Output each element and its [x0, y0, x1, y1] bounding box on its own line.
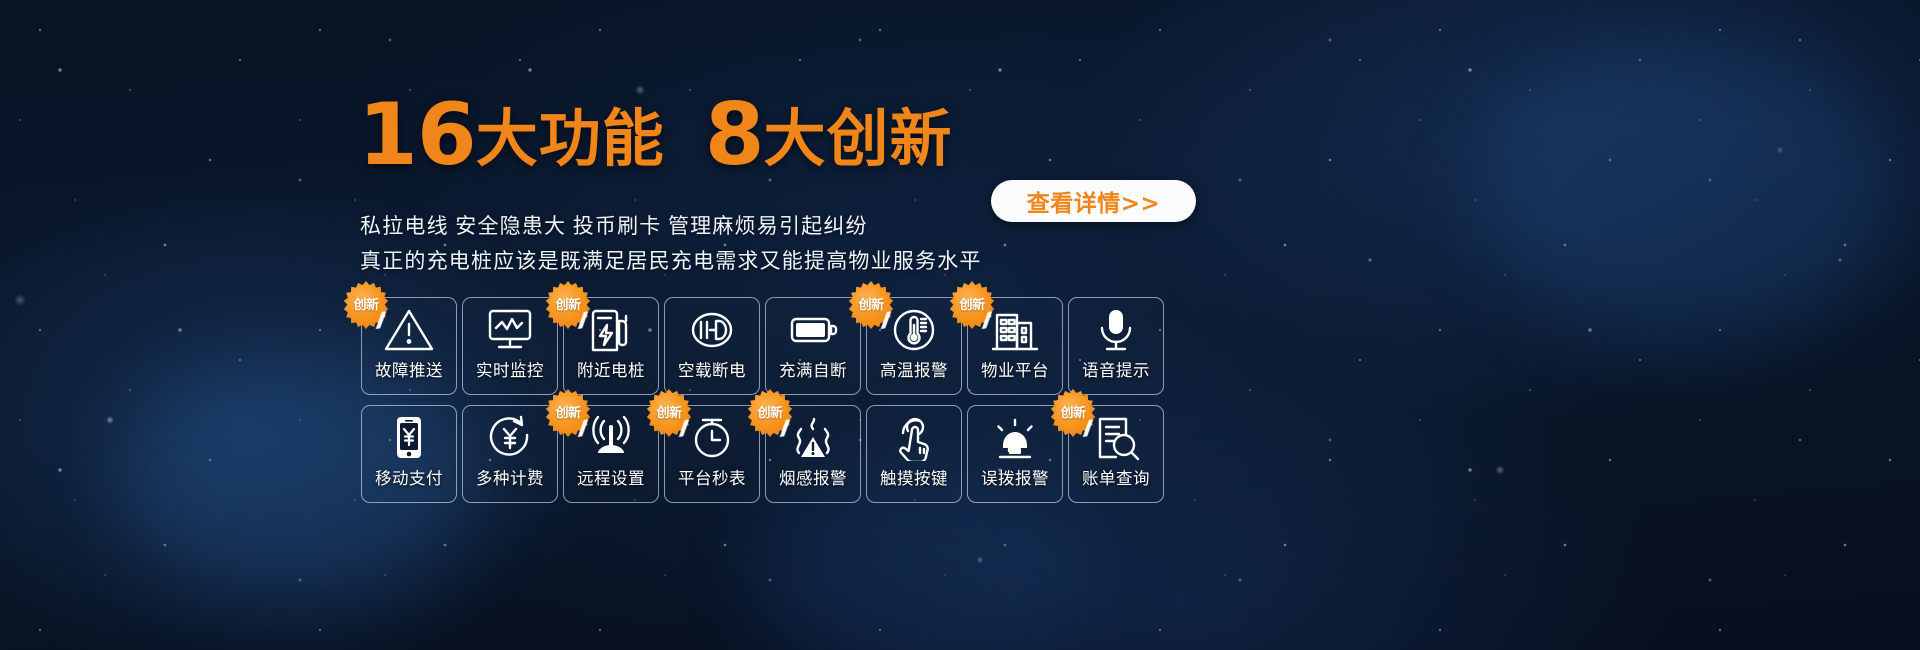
warning-triangle-icon — [383, 302, 435, 358]
headline-text-functions: 大功能 — [476, 102, 665, 175]
feature-tile-smoke-alarm[interactable]: 创新烟感报警 — [765, 405, 861, 503]
mobile-payment-icon — [383, 410, 435, 466]
feature-tile-antenna-signal[interactable]: 创新远程设置 — [563, 405, 659, 503]
yuan-circle-icon — [484, 410, 536, 466]
feature-tile-grid: 创新故障推送实时监控创新附近电桩空载断电充满自断创新高温报警创新物业平台语音提示… — [361, 297, 1164, 510]
nebula-glow-right — [1480, 40, 1900, 340]
feature-tile-label: 平台秒表 — [678, 465, 746, 489]
feature-tile-touch-hand[interactable]: 触摸按键 — [866, 405, 962, 503]
feature-tile-label: 烟感报警 — [779, 465, 847, 489]
feature-tile-siren-light[interactable]: 误拨报警 — [967, 405, 1063, 503]
charging-station-icon — [585, 302, 637, 358]
innovation-badge-label: 创新 — [555, 294, 580, 313]
innovation-badge-label: 创新 — [757, 402, 782, 421]
feature-tile-plug-disconnect[interactable]: 空载断电 — [664, 297, 760, 395]
feature-tile-mobile-payment[interactable]: 移动支付 — [361, 405, 457, 503]
feature-tile-building[interactable]: 创新物业平台 — [967, 297, 1063, 395]
feature-tile-label: 充满自断 — [779, 357, 847, 381]
innovation-badge-label: 创新 — [959, 294, 984, 313]
feature-tile-thermometer-alert[interactable]: 创新高温报警 — [866, 297, 962, 395]
feature-tile-yuan-circle[interactable]: 多种计费 — [462, 405, 558, 503]
feature-tile-battery-full[interactable]: 充满自断 — [765, 297, 861, 395]
feature-tile-label: 空载断电 — [678, 357, 746, 381]
innovation-badge-label: 创新 — [656, 402, 681, 421]
feature-tile-microphone[interactable]: 语音提示 — [1068, 297, 1164, 395]
headline-text-innovations: 大创新 — [764, 102, 953, 175]
plug-disconnect-icon — [686, 302, 738, 358]
innovation-badge-label: 创新 — [555, 402, 580, 421]
battery-full-icon — [787, 302, 839, 358]
subtitle-line-1: 私拉电线 安全隐患大 投币刷卡 管理麻烦易引起纠纷 — [360, 210, 868, 240]
innovation-badge-label: 创新 — [858, 294, 883, 313]
feature-tile-monitor-waveform[interactable]: 实时监控 — [462, 297, 558, 395]
microphone-icon — [1090, 302, 1142, 358]
feature-tile-label: 语音提示 — [1082, 357, 1150, 381]
feature-tile-label: 误拨报警 — [981, 465, 1049, 489]
smoke-alarm-icon — [787, 410, 839, 466]
feature-tile-label: 物业平台 — [981, 357, 1049, 381]
building-icon — [989, 302, 1041, 358]
view-details-button[interactable]: 查看详情>> — [991, 180, 1196, 222]
feature-tile-label: 多种计费 — [476, 465, 544, 489]
feature-tile-bill-search[interactable]: 创新账单查询 — [1068, 405, 1164, 503]
innovation-badge-label: 创新 — [353, 294, 378, 313]
monitor-waveform-icon — [484, 302, 536, 358]
feature-tile-label: 触摸按键 — [880, 465, 948, 489]
feature-tile-warning-triangle[interactable]: 创新故障推送 — [361, 297, 457, 395]
innovation-badge-label: 创新 — [1060, 402, 1085, 421]
banner-stage: 16大功能8大创新 私拉电线 安全隐患大 投币刷卡 管理麻烦易引起纠纷 真正的充… — [0, 0, 1920, 650]
feature-tile-label: 移动支付 — [375, 465, 443, 489]
antenna-signal-icon — [585, 410, 637, 466]
subtitle-line-2: 真正的充电桩应该是既满足居民充电需求又能提高物业服务水平 — [360, 245, 982, 275]
stopwatch-icon — [686, 410, 738, 466]
headline-number-16: 16 — [358, 85, 476, 185]
feature-tile-label: 远程设置 — [577, 465, 645, 489]
thermometer-alert-icon — [888, 302, 940, 358]
feature-tile-label: 高温报警 — [880, 357, 948, 381]
feature-tile-label: 账单查询 — [1082, 465, 1150, 489]
touch-hand-icon — [888, 410, 940, 466]
siren-light-icon — [989, 410, 1041, 466]
headline: 16大功能8大创新 — [358, 92, 953, 178]
feature-tile-charging-station[interactable]: 创新附近电桩 — [563, 297, 659, 395]
headline-number-8: 8 — [705, 85, 764, 185]
bill-search-icon — [1090, 410, 1142, 466]
feature-tile-label: 实时监控 — [476, 357, 544, 381]
feature-tile-stopwatch[interactable]: 创新平台秒表 — [664, 405, 760, 503]
view-details-label: 查看详情>> — [1027, 184, 1161, 218]
feature-tile-label: 故障推送 — [375, 357, 443, 381]
feature-tile-label: 附近电桩 — [577, 357, 645, 381]
